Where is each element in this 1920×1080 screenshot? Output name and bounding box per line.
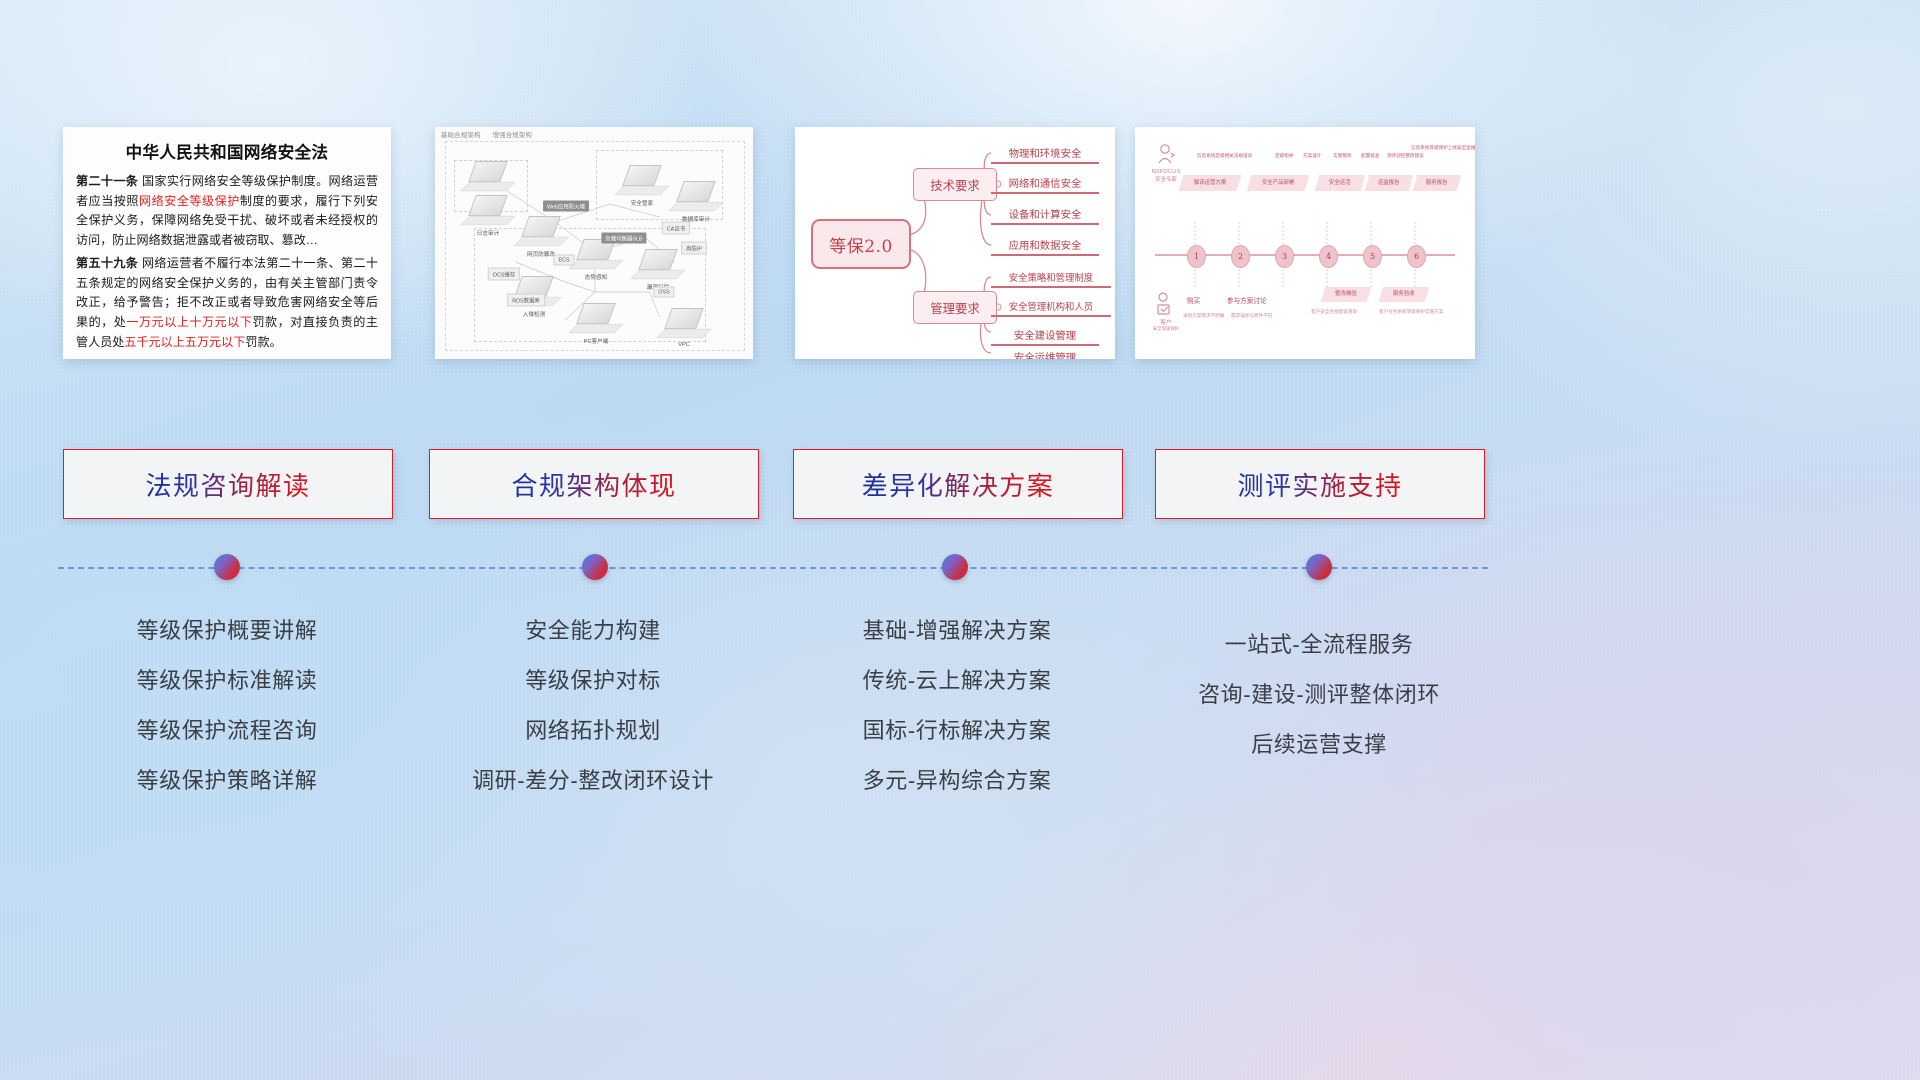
detail-item: 基础-增强解决方案 [793, 606, 1121, 656]
timeline-dot-3[interactable] [942, 554, 968, 580]
architecture-chip-slb: 负载均衡器SLB [601, 233, 646, 244]
flow-header-1: 定级指导 [1275, 153, 1293, 159]
node-base-icon [460, 216, 515, 225]
detail-item: 等级保护标准解读 [63, 656, 391, 706]
flow-bottom-tag-1: 参与方案讨论 [1227, 295, 1267, 305]
detail-column-4: 一站式-全流程服务 咨询-建设-测评整体闭环 后续运营支撑 [1155, 620, 1483, 770]
detail-item: 等级保护对标 [429, 656, 757, 706]
flow-top-tag-4: 服务报告 [1413, 175, 1462, 191]
node-label: 态势感知 [573, 273, 619, 281]
architecture-diagram: 基础合规架构 增强合规架构 [435, 127, 753, 359]
node-shape-icon [468, 161, 508, 182]
architecture-node-4: 数据库审计 [673, 181, 719, 223]
title-box-compliance-architecture[interactable]: 合规架构体现 [429, 449, 759, 519]
flow-step-6: 6 [1407, 245, 1426, 268]
detail-item: 网络拓扑规划 [429, 706, 757, 756]
card-cloud-architecture: 基础合规架构 增强合规架构 [435, 127, 753, 359]
architecture-node-8: PC客户端 [573, 303, 619, 345]
node-label: 日志审计 [465, 229, 511, 237]
mindmap-root: 等保2.0 [811, 219, 911, 269]
title-box-differentiated-solution[interactable]: 差异化解决方案 [793, 449, 1123, 519]
flow-bottom-chip-1: 服务验收 [1379, 287, 1429, 302]
detail-column-1: 等级保护概要讲解 等级保护标准解读 等级保护流程咨询 等级保护策略详解 [63, 606, 391, 806]
detail-column-row: 等级保护概要讲解 等级保护标准解读 等级保护流程咨询 等级保护策略详解 安全能力… [0, 606, 1920, 806]
architecture-tab-0[interactable]: 基础合规架构 [441, 132, 481, 139]
node-shape-icon [622, 165, 662, 186]
detail-item: 后续运营支撑 [1155, 720, 1483, 770]
flow-bottom-sub-1: 需求描述与原件不符 [1231, 313, 1272, 319]
title-label-1: 合规架构体现 [511, 466, 676, 503]
title-label-3: 测评实施支持 [1237, 466, 1402, 503]
article-59-text-c: 罚款。 [245, 335, 281, 349]
architecture-tab-1[interactable]: 增强合规架构 [493, 132, 533, 139]
detail-item: 安全能力构建 [429, 606, 757, 656]
flow-header-4: 配置核查 [1361, 153, 1379, 159]
detail-column-2: 安全能力构建 等级保护对标 网络拓扑规划 调研-差分-整改闭环设计 [429, 606, 757, 806]
image-card-row: 中华人民共和国网络安全法 第二十一条 国家实行网络安全等级保护制度。网络运营者应… [0, 127, 1920, 363]
node-label: 安全管家 [619, 199, 665, 207]
mindmap-branch-technical: 技术要求 [913, 168, 997, 201]
flow-header-0: 信息系统定级相关法规培训 [1197, 153, 1252, 159]
node-base-icon [656, 329, 711, 338]
flow-header-3: 实施整改 [1333, 153, 1351, 159]
timeline-dashed-line [58, 567, 1488, 569]
node-base-icon [568, 260, 623, 269]
customer-sub: 安全等级保护 [1143, 326, 1189, 332]
architecture-chip-ca: CA证书 [662, 222, 690, 235]
mindmap-leaf-m2: 安全建设管理 [991, 327, 1099, 346]
card-dengbao-mindmap: 等保2.0 技术要求 物理和环境安全 网络和通信安全 设备和计算安全 应用和数据… [795, 127, 1115, 359]
node-shape-icon [664, 308, 704, 329]
mindmap-leaf-m3: 安全运维管理 [991, 349, 1099, 359]
architecture-node-9: VPC [661, 308, 707, 348]
article-59-highlight-2: 五千元以上五万元以下 [124, 335, 245, 349]
title-box-regulation-consulting[interactable]: 法规咨询解读 [63, 449, 393, 519]
architecture-node-6: 漏洞扫描 [635, 249, 681, 291]
node-label: VPC [661, 342, 707, 348]
detail-item: 多元-异构综合方案 [793, 756, 1121, 806]
architecture-node-3: 安全管家 [619, 165, 665, 207]
law-title: 中华人民共和国网络安全法 [76, 139, 378, 163]
card-cybersecurity-law: 中华人民共和国网络安全法 第二十一条 国家实行网络安全等级保护制度。网络运营者应… [63, 127, 391, 359]
mindmap-branch-management: 管理要求 [913, 291, 997, 324]
architecture-node-1: 日志审计 [465, 195, 511, 237]
detail-item: 等级保护策略详解 [63, 756, 391, 806]
architecture-chip-oss: OSS [653, 287, 674, 298]
node-base-icon [513, 237, 568, 246]
flow-header-2: 方案设计 [1303, 153, 1321, 159]
flow-top-tag-1: 安全产品部署 [1247, 175, 1310, 191]
customer-role: 客户 安全等级保护 [1143, 317, 1189, 332]
flow-top-tag-2: 安全运活 [1315, 175, 1366, 191]
title-box-row: 法规咨询解读 合规架构体现 差异化解决方案 测评实施支持 [0, 449, 1920, 519]
timeline [58, 566, 1488, 570]
detail-item: 一站式-全流程服务 [1155, 620, 1483, 670]
detail-item: 等级保护流程咨询 [63, 706, 391, 756]
node-base-icon [668, 202, 723, 211]
mindmap: 等保2.0 技术要求 物理和环境安全 网络和通信安全 设备和计算安全 应用和数据… [795, 127, 1115, 359]
flow-bottom-sub-0: 采购方案需求不明确 [1183, 313, 1224, 319]
title-label-0: 法规咨询解读 [145, 466, 310, 503]
mindmap-leaf-m1: 安全管理机构和人员 [991, 299, 1111, 317]
flow-bottom-chip-0: 整改确验 [1321, 287, 1371, 302]
node-base-icon [568, 324, 623, 333]
mindmap-leaf-t1: 网络和通信安全 [991, 175, 1099, 194]
timeline-dot-2[interactable] [582, 554, 608, 580]
detail-item: 国标-行标解决方案 [793, 706, 1121, 756]
timeline-dot-4[interactable] [1306, 554, 1332, 580]
mindmap-leaf-t2: 设备和计算安全 [991, 206, 1099, 225]
flow-header-5: 测评迎检整改建议 [1387, 153, 1424, 159]
article-59-highlight-1: 一万元以上十万元以下 [126, 315, 252, 329]
title-label-2: 差异化解决方案 [862, 466, 1055, 503]
node-shape-icon [521, 216, 561, 237]
flow-top-tag-3: 运监报告 [1365, 175, 1414, 191]
flow-header-6: 信息系统等级保护上线安全运维支持 [1411, 145, 1475, 151]
node-shape-icon [576, 303, 616, 324]
article-59-label: 第五十九条 [76, 256, 138, 270]
article-21-label: 第二十一条 [76, 174, 138, 188]
flow-step-4: 4 [1319, 245, 1338, 268]
flow-bottom-sub-2: 客户安全合规建设清单 [1311, 309, 1357, 315]
flow-step-3: 3 [1275, 245, 1294, 268]
node-shape-icon [638, 249, 678, 270]
flow-top-tag-0: 解读运营方案 [1179, 175, 1242, 191]
architecture-chip-ecs: ECS [553, 255, 574, 266]
node-shape-icon [676, 181, 716, 202]
flow-bottom-sub-3: 客户业务系统等级保护实施方案 [1379, 309, 1443, 315]
flow-step-1: 1 [1187, 245, 1206, 268]
mindmap-leaf-t0: 物理和环境安全 [991, 145, 1099, 164]
flow-step-5: 5 [1363, 245, 1382, 268]
detail-item: 调研-差分-整改闭环设计 [429, 756, 757, 806]
service-flow-diagram: NSFOCUS 安全专家 客户 安全等级保护 信息系统定级相关法规培训 定级指导… [1135, 127, 1475, 359]
law-article-21: 第二十一条 国家实行网络安全等级保护制度。网络运营者应当按照网络安全等级保护制度… [76, 172, 378, 250]
architecture-chip-ocs: OCS缓存 [488, 268, 520, 281]
node-base-icon [614, 186, 669, 195]
mindmap-leaf-m0: 安全策略和管理制度 [991, 270, 1111, 288]
card-service-flow: NSFOCUS 安全专家 客户 安全等级保护 信息系统定级相关法规培训 定级指导… [1135, 127, 1475, 359]
node-label: PC客户端 [573, 337, 619, 345]
detail-item: 咨询-建设-测评整体闭环 [1155, 670, 1483, 720]
law-article-59: 第五十九条 网络运营者不履行本法第二十一条、第二十五条规定的网络安全保护义务的，… [76, 254, 378, 352]
detail-column-3: 基础-增强解决方案 传统-云上解决方案 国标-行标解决方案 多元-异构综合方案 [793, 606, 1121, 806]
timeline-dot-1[interactable] [214, 554, 240, 580]
architecture-chip-highip: 高防IP [681, 242, 707, 255]
article-21-highlight: 网络安全等级保护 [139, 194, 240, 208]
node-shape-icon [468, 195, 508, 216]
architecture-node-5: 态势感知 [573, 239, 619, 281]
flow-step-2: 2 [1231, 245, 1250, 268]
architecture-chip-waf: Web应用防火墙 [543, 201, 589, 212]
node-base-icon [460, 182, 515, 191]
node-label: 入侵检测 [511, 310, 557, 318]
mindmap-leaf-t3: 应用和数据安全 [991, 237, 1099, 256]
node-base-icon [630, 270, 685, 279]
architecture-canvas: 堡垒机 日志审计 网页防篡改 安全管家 数据库审计 态势感知 漏洞扫描 入侵检测… [445, 141, 745, 351]
architecture-tabs: 基础合规架构 增强合规架构 [441, 130, 542, 139]
architecture-chip-rds: RDS数据库 [507, 294, 545, 307]
law-document: 中华人民共和国网络安全法 第二十一条 国家实行网络安全等级保护制度。网络运营者应… [63, 127, 391, 359]
title-box-evaluation-support[interactable]: 测评实施支持 [1155, 449, 1485, 519]
architecture-node-2: 网页防篡改 [518, 216, 564, 258]
detail-item: 等级保护概要讲解 [63, 606, 391, 656]
flow-bottom-tag-0: 购买 [1187, 295, 1200, 305]
detail-item: 传统-云上解决方案 [793, 656, 1121, 706]
